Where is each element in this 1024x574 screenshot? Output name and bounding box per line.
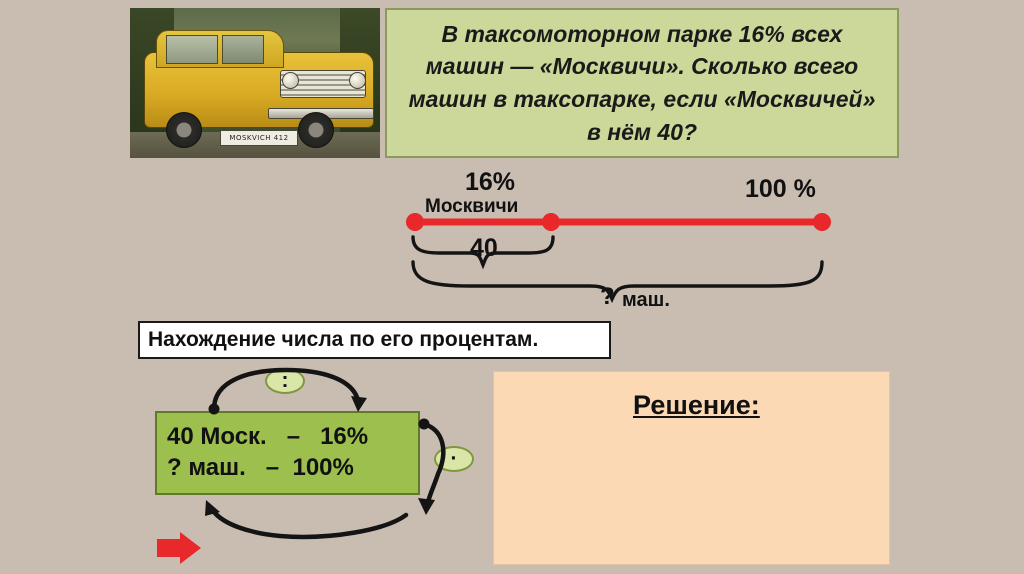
proportion-box: 40 Моск. – 16% ? маш. – 100% <box>155 411 420 495</box>
proportion-line-unknown: ? маш. – 100% <box>167 453 418 484</box>
car-headlight-right <box>349 72 366 89</box>
moskvich-taxi-car-photo: MOSKVICH 412 <box>130 8 380 158</box>
label-unknown-unit: маш. <box>622 289 670 312</box>
slide-canvas: MOSKVICH 412 В таксомоторном парке 16% в… <box>0 0 1024 574</box>
label-known-value: 40 <box>470 234 498 263</box>
label-percent-small: 16% <box>465 168 515 197</box>
car-wheel-front <box>298 112 334 148</box>
task-statement-box: В таксомоторном парке 16% всех машин — «… <box>385 8 899 158</box>
car-wheel-rear <box>166 112 202 148</box>
arrow-divide-head <box>351 396 367 412</box>
operation-divide-bubble: : <box>265 368 305 394</box>
number-line-point-start <box>406 213 424 231</box>
car-window-front <box>166 35 218 64</box>
number-line-point-100 <box>813 213 831 231</box>
solution-title: Решение: <box>633 390 760 421</box>
operation-multiply-bubble: · <box>434 446 474 472</box>
proportion-line-known: 40 Моск. – 16% <box>167 422 418 453</box>
label-percent-full: 100 % <box>745 175 816 204</box>
label-unknown-value: ? <box>600 283 615 311</box>
red-arrow <box>157 532 201 564</box>
car-headlight-left <box>282 72 299 89</box>
arrow-multiply-tail-dot <box>419 419 430 430</box>
arrow-multiply-head <box>418 498 435 515</box>
arrow-bottom-head <box>205 500 220 516</box>
label-moskvichi-caption: Москвичи <box>425 196 518 218</box>
task-statement-text: В таксомоторном парке 16% всех машин — «… <box>387 18 897 149</box>
rule-text: Нахождение числа по его процентам. <box>140 328 538 352</box>
car-license-plate: MOSKVICH 412 <box>220 130 298 146</box>
rule-box: Нахождение числа по его процентам. <box>138 321 611 359</box>
number-line-point-16 <box>542 213 560 231</box>
brace-unknown-total <box>413 262 822 299</box>
car-window-rear <box>222 35 264 64</box>
arrow-bottom-return <box>214 512 406 537</box>
